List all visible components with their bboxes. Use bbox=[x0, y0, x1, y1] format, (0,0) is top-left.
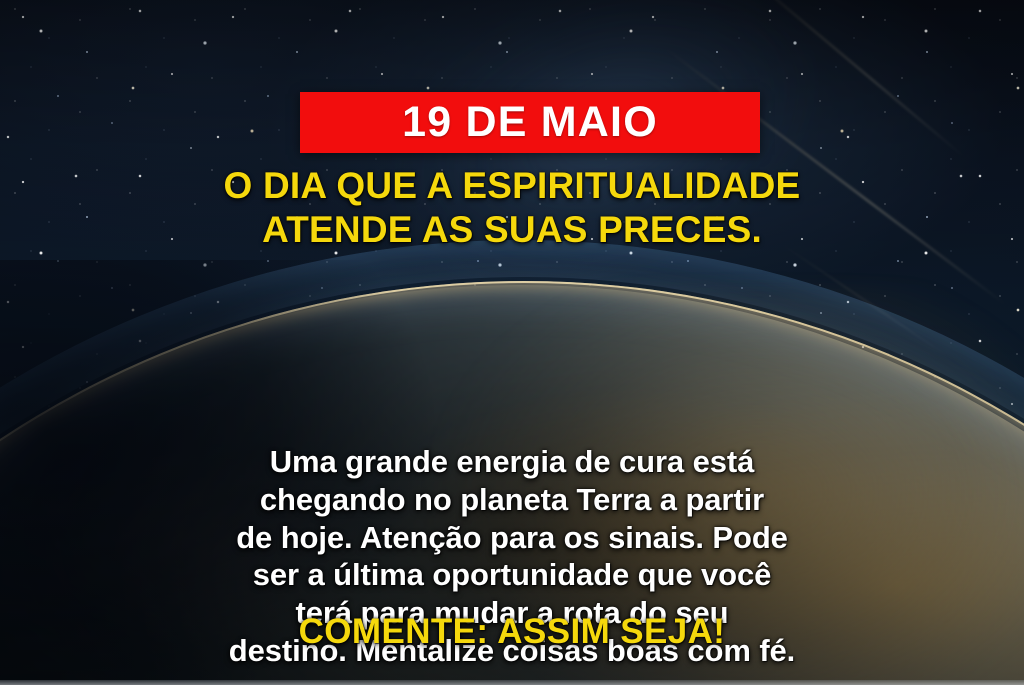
bottom-edge-strip bbox=[0, 680, 1024, 685]
headline-line-1: O DIA QUE A ESPIRITUALIDADE bbox=[48, 164, 976, 208]
body-line-4: ser a última oportunidade que você bbox=[56, 556, 968, 594]
poster-content: 19 DE MAIO O DIA QUE A ESPIRITUALIDADE A… bbox=[0, 0, 1024, 685]
date-banner: 19 DE MAIO bbox=[300, 92, 760, 153]
body-line-3: de hoje. Atenção para os sinais. Pode bbox=[56, 519, 968, 557]
poster-canvas: 19 DE MAIO O DIA QUE A ESPIRITUALIDADE A… bbox=[0, 0, 1024, 685]
body-line-2: chegando no planeta Terra a partir bbox=[56, 481, 968, 519]
headline-line-2: ATENDE AS SUAS PRECES. bbox=[48, 208, 976, 252]
call-to-action-text: COMENTE: ASSIM SEJA! bbox=[0, 612, 1024, 652]
body-line-1: Uma grande energia de cura está bbox=[56, 443, 968, 481]
headline: O DIA QUE A ESPIRITUALIDADE ATENDE AS SU… bbox=[0, 164, 1024, 251]
date-banner-text: 19 DE MAIO bbox=[402, 101, 658, 144]
